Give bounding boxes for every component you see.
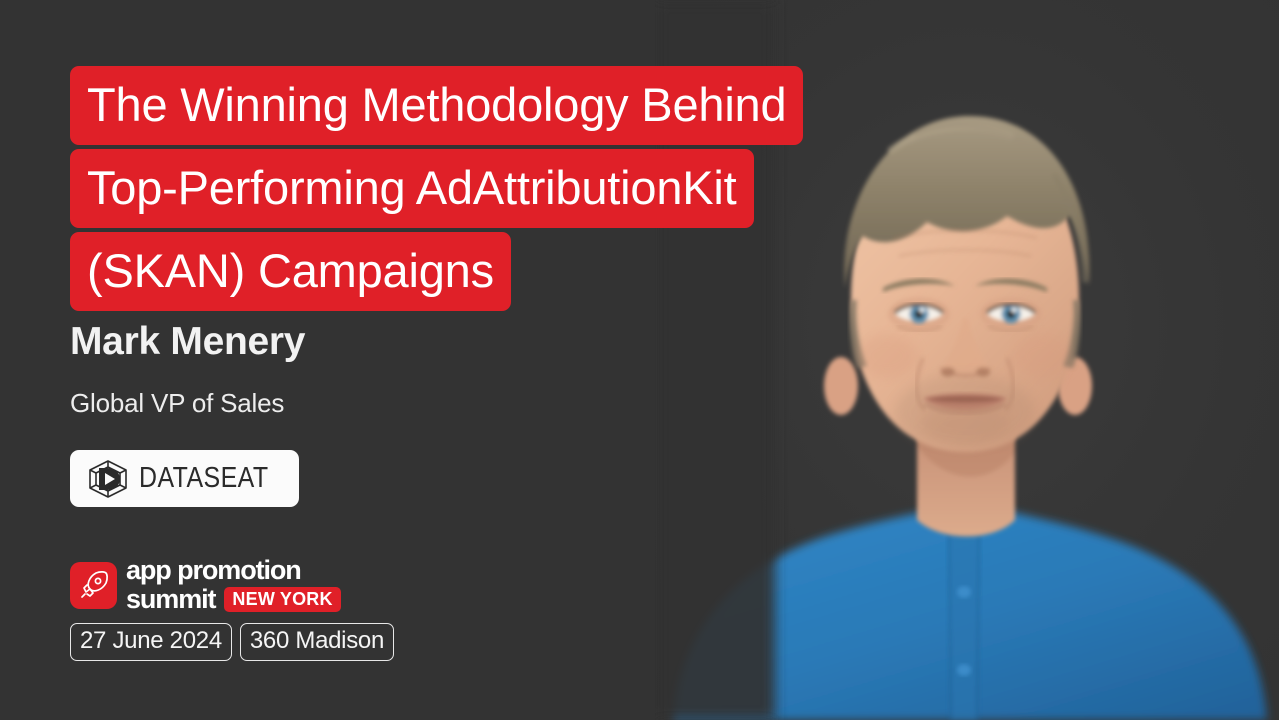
hexagon-play-icon [86, 459, 130, 499]
slide-title: The Winning Methodology Behind Top-Perfo… [70, 66, 803, 311]
event-venue-chip: 360 Madison [240, 623, 394, 661]
speaker-name: Mark Menery [70, 320, 305, 364]
company-name: DATASEAT [139, 464, 269, 493]
event-name-line-1: app promotion [126, 557, 341, 585]
title-line-3: (SKAN) Campaigns [70, 232, 511, 311]
title-line-1: The Winning Methodology Behind [70, 66, 803, 145]
event-date-chip: 27 June 2024 [70, 623, 232, 661]
speaker-slide: The Winning Methodology Behind Top-Perfo… [0, 0, 1279, 720]
event-logo: app promotion summit NEW YORK [70, 557, 341, 613]
rocket-icon [70, 562, 117, 609]
event-name-top: app promotion [126, 557, 301, 585]
event-details: 27 June 2024 360 Madison [70, 623, 394, 661]
event-name-bottom: summit [126, 586, 215, 614]
event-city-badge: NEW YORK [224, 587, 340, 612]
event-name-line-2: summit NEW YORK [126, 586, 341, 614]
speaker-role: Global VP of Sales [70, 388, 284, 419]
company-logo-badge: DATASEAT [70, 450, 299, 507]
title-line-2: Top-Performing AdAttributionKit [70, 149, 754, 228]
